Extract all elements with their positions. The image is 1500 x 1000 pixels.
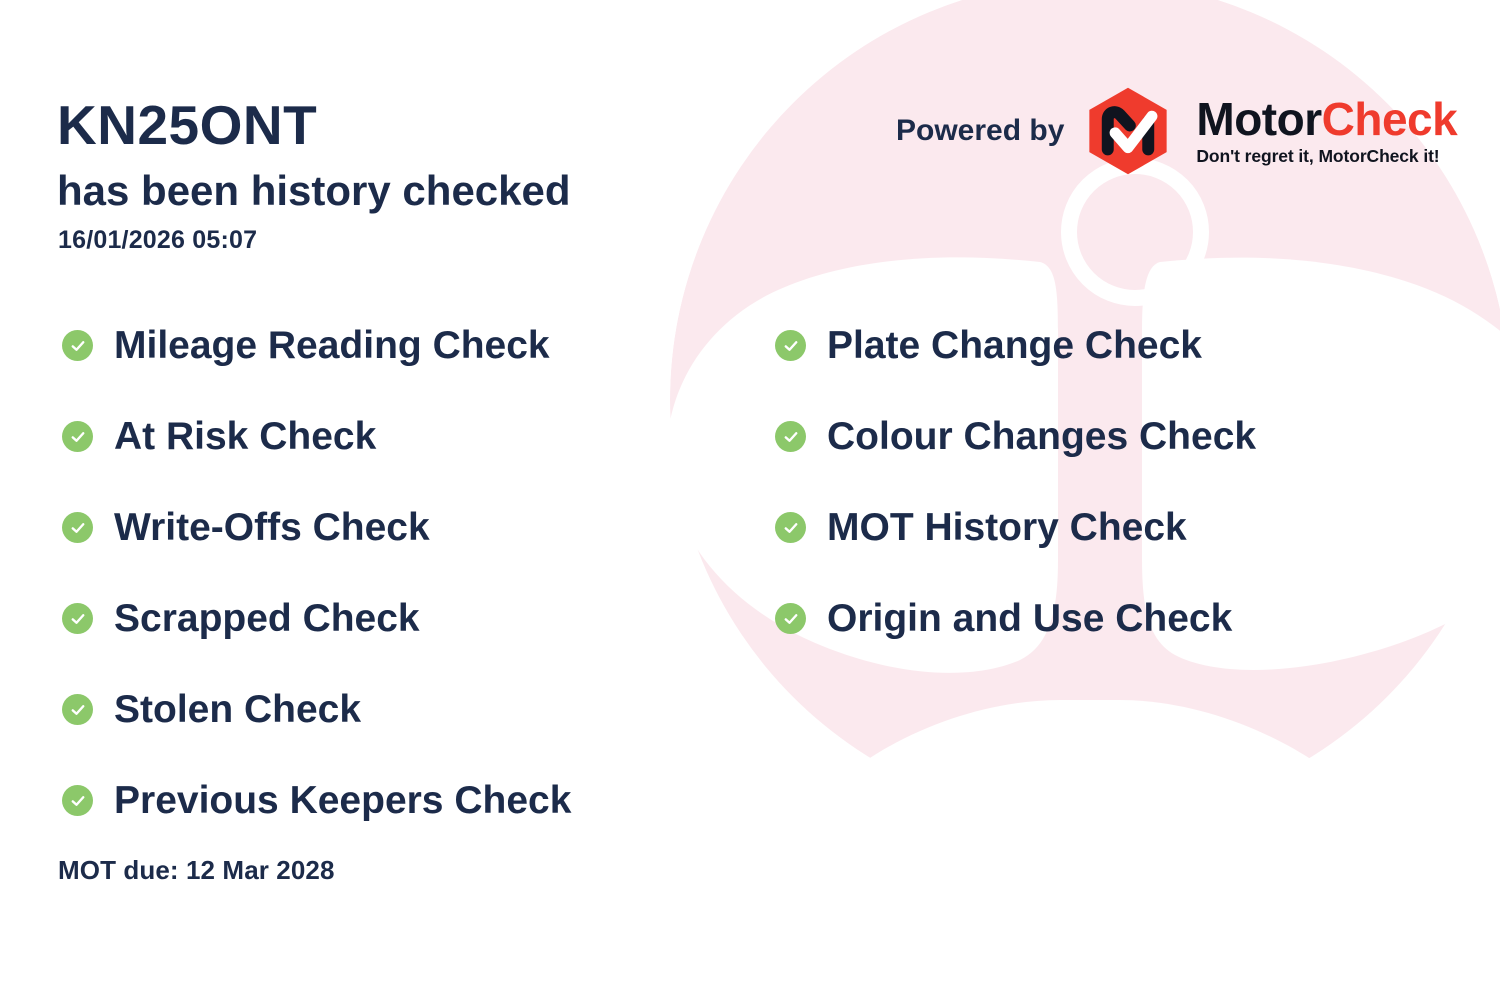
green-check-circle-icon bbox=[62, 785, 93, 816]
check-item: At Risk Check bbox=[62, 391, 752, 482]
green-check-circle-icon bbox=[62, 512, 93, 543]
check-item: Stolen Check bbox=[62, 664, 752, 755]
check-label: Plate Change Check bbox=[827, 326, 1202, 365]
check-label: At Risk Check bbox=[114, 417, 376, 456]
check-label: Origin and Use Check bbox=[827, 599, 1232, 638]
check-label: Previous Keepers Check bbox=[114, 781, 571, 820]
logo-word-motor: Motor bbox=[1196, 93, 1321, 145]
check-item: Write-Offs Check bbox=[62, 482, 752, 573]
motorcheck-hexagon-logo-icon bbox=[1082, 85, 1174, 177]
check-item: MOT History Check bbox=[775, 482, 1475, 573]
check-item: Origin and Use Check bbox=[775, 573, 1475, 664]
registration-plate: KN25ONT bbox=[57, 98, 317, 153]
page-title: has been history checked bbox=[57, 167, 571, 215]
green-check-circle-icon bbox=[62, 330, 93, 361]
check-item: Colour Changes Check bbox=[775, 391, 1475, 482]
green-check-circle-icon bbox=[775, 330, 806, 361]
green-check-circle-icon bbox=[775, 421, 806, 452]
checks-column-left: Mileage Reading Check At Risk Check Writ… bbox=[62, 300, 752, 846]
check-label: Scrapped Check bbox=[114, 599, 420, 638]
checks-column-right: Plate Change Check Colour Changes Check … bbox=[775, 300, 1475, 664]
check-item: Scrapped Check bbox=[62, 573, 752, 664]
green-check-circle-icon bbox=[62, 694, 93, 725]
powered-by-block: Powered by MotorCheck Don't regret it, M… bbox=[896, 88, 1457, 174]
check-label: Stolen Check bbox=[114, 690, 361, 729]
check-item: Plate Change Check bbox=[775, 300, 1475, 391]
check-label: Mileage Reading Check bbox=[114, 326, 550, 365]
check-label: MOT History Check bbox=[827, 508, 1187, 547]
green-check-circle-icon bbox=[775, 603, 806, 634]
green-check-circle-icon bbox=[62, 603, 93, 634]
check-label: Colour Changes Check bbox=[827, 417, 1256, 456]
check-item: Mileage Reading Check bbox=[62, 300, 752, 391]
green-check-circle-icon bbox=[775, 512, 806, 543]
check-label: Write-Offs Check bbox=[114, 508, 430, 547]
check-item: Previous Keepers Check bbox=[62, 755, 752, 846]
check-timestamp: 16/01/2026 05:07 bbox=[58, 226, 257, 255]
mot-due-date: MOT due: 12 Mar 2028 bbox=[58, 855, 335, 886]
green-check-circle-icon bbox=[62, 421, 93, 452]
powered-by-label: Powered by bbox=[896, 114, 1064, 148]
logo-word-check: Check bbox=[1322, 93, 1458, 145]
motorcheck-wordmark: MotorCheck Don't regret it, MotorCheck i… bbox=[1196, 96, 1457, 167]
vehicle-history-check-card: KN25ONT has been history checked 16/01/2… bbox=[0, 0, 1500, 1000]
logo-tagline: Don't regret it, MotorCheck it! bbox=[1196, 146, 1457, 167]
